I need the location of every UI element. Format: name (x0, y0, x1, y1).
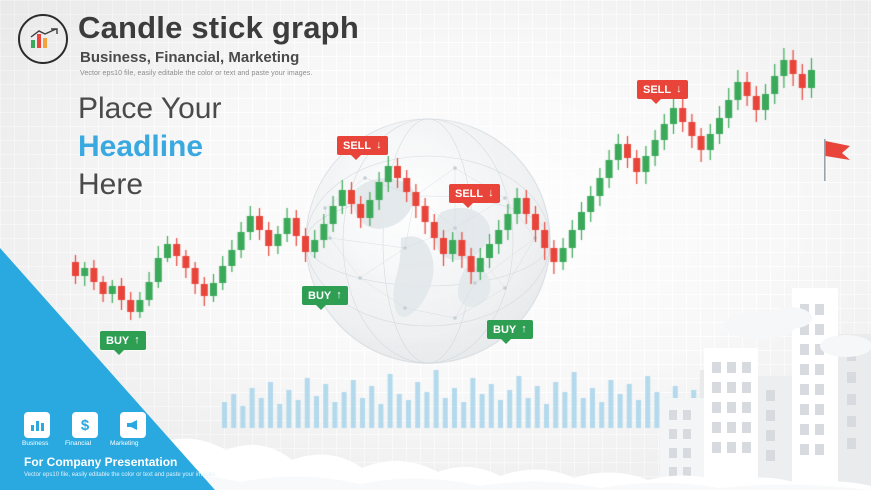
arrow-up-icon: ↑ (336, 290, 342, 301)
page-subtitle: Business, Financial, Marketing (80, 49, 299, 66)
slide-canvas: Candle stick graph Business, Financial, … (0, 0, 871, 490)
headline-line-1: Place Your (78, 92, 221, 126)
header-note: Vector eps10 file, easily editable the c… (80, 70, 312, 77)
signal-badge-label: BUY (493, 324, 516, 336)
footer-tagline: For Company Presentation (24, 455, 177, 469)
arrow-up-icon: ↑ (521, 324, 527, 335)
arrow-up-icon: ↑ (134, 335, 140, 346)
page-title: Candle stick graph (78, 10, 359, 46)
signal-badge-label: BUY (308, 290, 331, 302)
logo-icon (18, 14, 68, 64)
footer-icon-label-marketing: Marketing (110, 440, 139, 447)
arrow-down-icon: ↓ (676, 84, 682, 95)
signal-badge-sell-3: SELL↓ (449, 184, 500, 203)
signal-badge-label: SELL (455, 188, 483, 200)
footer-icon-row: $ (24, 412, 146, 438)
signal-badge-buy-2: BUY↑ (302, 286, 348, 305)
signal-badge-buy-0: BUY↑ (100, 331, 146, 350)
headline-line-2: Headline (78, 130, 203, 164)
arrow-down-icon: ↓ (488, 188, 494, 199)
signal-badge-label: BUY (106, 335, 129, 347)
signal-badge-label: SELL (643, 84, 671, 96)
signal-badge-buy-4: BUY↑ (487, 320, 533, 339)
megaphone-icon (120, 412, 146, 438)
signal-badge-label: SELL (343, 140, 371, 152)
signal-badge-sell-5: SELL↓ (637, 80, 688, 99)
bar-chart-icon (24, 412, 50, 438)
arrow-down-icon: ↓ (376, 140, 382, 151)
footer-icon-label-business: Business (22, 440, 48, 447)
footer-icon-label-financial: Financial (65, 440, 91, 447)
footer-note: Vector eps10 file, easily editable the c… (24, 472, 217, 478)
signal-badge-sell-1: SELL↓ (337, 136, 388, 155)
headline-line-3: Here (78, 168, 143, 202)
flag-icon (824, 139, 854, 181)
dollar-icon: $ (72, 412, 98, 438)
